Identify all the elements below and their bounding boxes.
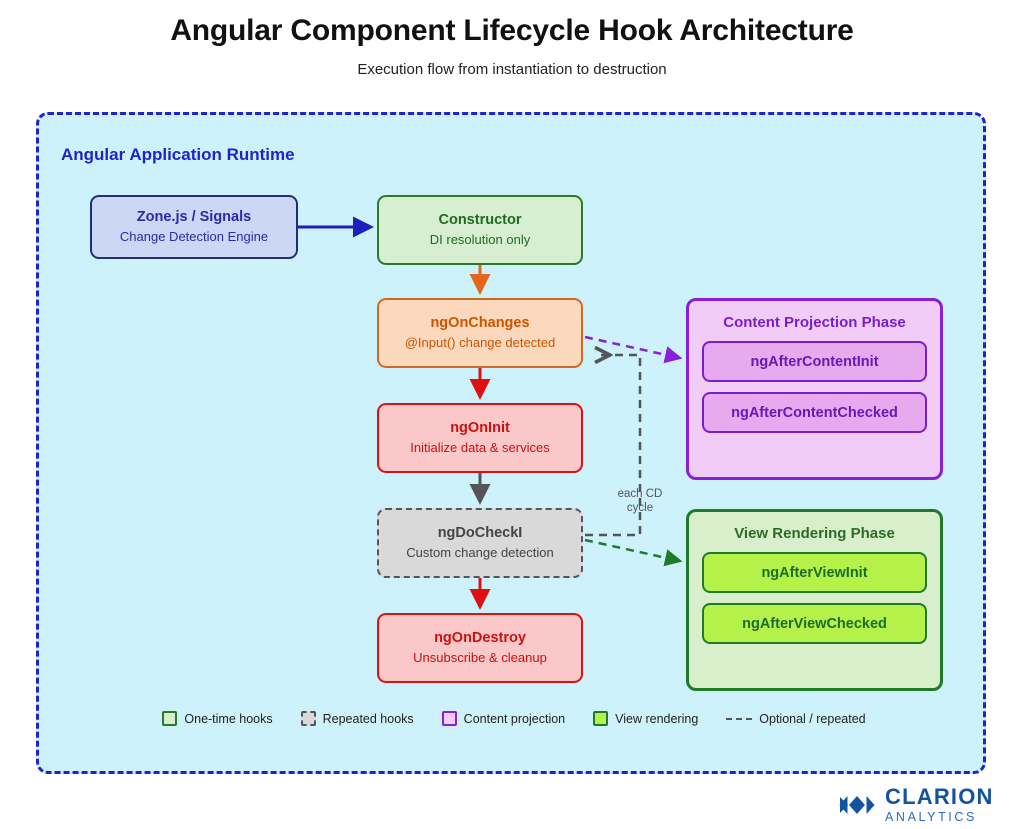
each-cd-cycle-label: each CD cycle xyxy=(605,487,675,516)
angular-application-runtime-container: Angular Application Runtime xyxy=(36,112,986,774)
panel-content-projection-phase: Content Projection Phase ngAfterContentI… xyxy=(686,298,943,480)
runtime-container-title: Angular Application Runtime xyxy=(61,145,295,165)
node-ngoninit-subtitle: Initialize data & services xyxy=(410,440,549,457)
panel-view-rendering-phase: View Rendering Phase ngAfterViewInit ngA… xyxy=(686,509,943,691)
node-ngoninit-title: ngOnInit xyxy=(450,419,510,437)
node-constructor-title: Constructor xyxy=(439,211,522,229)
legend-item-optional-repeated: Optional / repeated xyxy=(726,712,865,726)
page-header: Angular Component Lifecycle Hook Archite… xyxy=(0,0,1024,78)
brand-text: CLARION ANALYTICS xyxy=(885,786,994,824)
node-ngondestroy[interactable]: ngOnDestroy Unsubscribe & cleanup xyxy=(377,613,583,683)
hook-ngaftercontentchecked[interactable]: ngAfterContentChecked xyxy=(702,392,927,433)
cd-cycle-line-1: each CD xyxy=(605,487,675,501)
legend-swatch-repeated-hooks xyxy=(301,711,316,726)
hook-ngafterviewinit[interactable]: ngAfterViewInit xyxy=(702,552,927,593)
node-constructor-subtitle: DI resolution only xyxy=(430,232,530,249)
view-phase-title: View Rendering Phase xyxy=(689,525,940,542)
hook-ngaftercontentinit[interactable]: ngAfterContentInit xyxy=(702,341,927,382)
brand-tagline: ANALYTICS xyxy=(885,811,994,824)
brand-name: CLARION xyxy=(885,786,994,808)
node-zone-subtitle: Change Detection Engine xyxy=(120,229,268,246)
node-ngondestroy-subtitle: Unsubscribe & cleanup xyxy=(413,650,547,667)
cd-cycle-line-2: cycle xyxy=(605,501,675,515)
content-phase-title: Content Projection Phase xyxy=(689,314,940,331)
node-ngondestroy-title: ngOnDestroy xyxy=(434,629,526,647)
legend-item-one-time-hooks: One-time hooks xyxy=(162,711,272,726)
legend-label-content-projection: Content projection xyxy=(464,712,565,726)
brand-logo: CLARION ANALYTICS xyxy=(838,786,994,824)
node-ngonchanges[interactable]: ngOnChanges @Input() change detected xyxy=(377,298,583,368)
node-zone-js-signals[interactable]: Zone.js / Signals Change Detection Engin… xyxy=(90,195,298,259)
node-ngonchanges-subtitle: @Input() change detected xyxy=(405,335,556,352)
node-ngoninit[interactable]: ngOnInit Initialize data & services xyxy=(377,403,583,473)
legend-label-view-rendering: View rendering xyxy=(615,712,698,726)
legend-swatch-view-rendering xyxy=(593,711,608,726)
hook-ngafterviewchecked[interactable]: ngAfterViewChecked xyxy=(702,603,927,644)
node-zone-title: Zone.js / Signals xyxy=(137,208,251,226)
node-ngdocheck-subtitle: Custom change detection xyxy=(406,545,553,562)
node-ngdocheck-title: ngDoCheckI xyxy=(438,524,523,542)
legend-item-repeated-hooks: Repeated hooks xyxy=(301,711,414,726)
page-subtitle: Execution flow from instantiation to des… xyxy=(0,61,1024,78)
node-constructor[interactable]: Constructor DI resolution only xyxy=(377,195,583,265)
arrow-onchanges-to-content-phase xyxy=(585,337,680,358)
legend-item-content-projection: Content projection xyxy=(442,711,565,726)
page-title: Angular Component Lifecycle Hook Archite… xyxy=(0,14,1024,48)
node-ngonchanges-title: ngOnChanges xyxy=(430,314,529,332)
legend-dashed-line-icon xyxy=(726,718,752,720)
legend-label-one-time-hooks: One-time hooks xyxy=(184,712,272,726)
clarion-diamond-icon xyxy=(838,788,876,822)
node-ngdocheck[interactable]: ngDoCheckI Custom change detection xyxy=(377,508,583,578)
legend-label-repeated-hooks: Repeated hooks xyxy=(323,712,414,726)
legend: One-time hooks Repeated hooks Content pr… xyxy=(39,711,989,726)
legend-label-optional-repeated: Optional / repeated xyxy=(759,712,865,726)
legend-swatch-one-time-hooks xyxy=(162,711,177,726)
legend-item-view-rendering: View rendering xyxy=(593,711,698,726)
arrow-docheck-to-view-phase xyxy=(585,540,680,561)
legend-swatch-content-projection xyxy=(442,711,457,726)
